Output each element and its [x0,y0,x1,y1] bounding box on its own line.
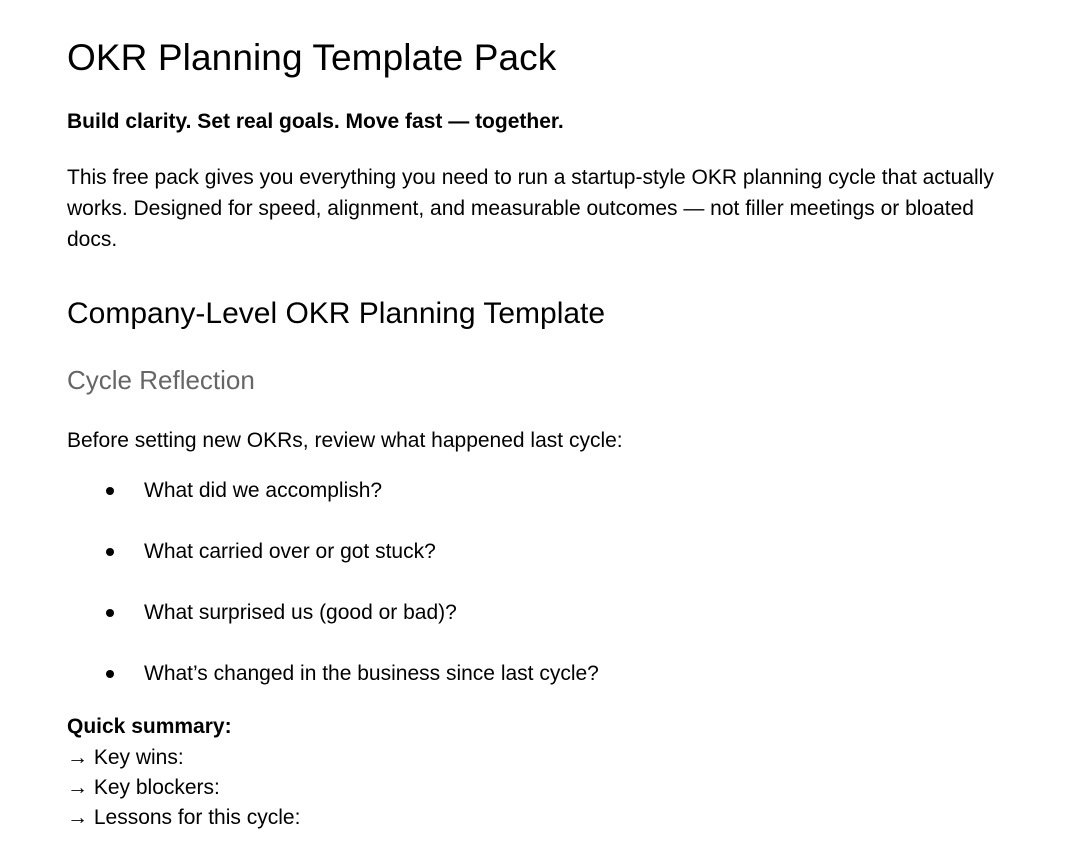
reflection-question-list: What did we accomplish? What carried ove… [67,456,1003,689]
quick-summary-label: Quick summary: [67,689,1003,741]
reflection-lead-in-text: Before setting new OKRs, review what hap… [67,397,1003,456]
page-title: OKR Planning Template Pack [67,0,1003,80]
list-item: What surprised us (good or bad)? [67,598,1003,628]
bullet-dot-icon [106,609,114,617]
bullet-dot-icon [106,548,114,556]
summary-line-lessons: → Lessons for this cycle: [67,803,1003,833]
list-item: What’s changed in the business since las… [67,659,1003,689]
list-item-label: What surprised us (good or bad)? [144,601,457,624]
list-item-label: What carried over or got stuck? [144,540,436,563]
summary-line-key-blockers: → Key blockers: [67,773,1003,803]
list-item: What carried over or got stuck? [67,537,1003,567]
bullet-dot-icon [106,487,114,495]
document-tagline: Build clarity. Set real goals. Move fast… [67,80,1003,137]
intro-paragraph: This free pack gives you everything you … [67,137,1003,255]
list-item: What did we accomplish? [67,476,1003,506]
section-heading-company-level-okr-planning-template: Company-Level OKR Planning Template [67,255,1003,333]
document-page: OKR Planning Template Pack Build clarity… [0,0,1083,866]
quick-summary-list: → Key wins: → Key blockers: → Lessons fo… [67,741,1003,833]
bullet-dot-icon [106,670,114,678]
list-item-label: What did we accomplish? [144,479,382,502]
subsection-heading-cycle-reflection: Cycle Reflection [67,333,1003,397]
summary-line-key-wins: → Key wins: [67,743,1003,773]
list-item-label: What’s changed in the business since las… [144,662,599,685]
